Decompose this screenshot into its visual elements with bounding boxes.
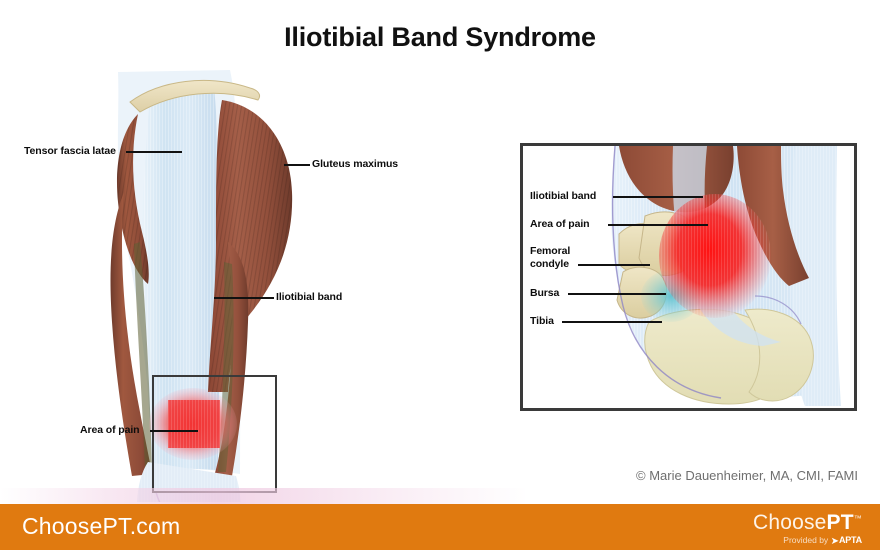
- illustration-canvas: Iliotibial Band Syndrome: [0, 0, 880, 550]
- logo-wordmark: ChoosePT™: [753, 507, 862, 534]
- leader-area-of-pain-left: [150, 430, 198, 432]
- label-area-of-pain-left: Area of pain: [80, 424, 139, 436]
- apta-org-name: APTA: [839, 535, 862, 545]
- label-femoral-condyle-line1: Femoral: [530, 245, 570, 258]
- apta-swoosh-icon: ➤: [831, 537, 839, 547]
- copyright-credit: © Marie Dauenheimer, MA, CMI, FAMI: [636, 468, 858, 483]
- footer-site-name[interactable]: ChoosePT.com: [22, 513, 180, 540]
- pink-wash-band: [0, 488, 880, 504]
- label-femoral-condyle-line2: condyle: [530, 258, 569, 271]
- label-iliotibial-band-left: Iliotibial band: [276, 291, 342, 303]
- knee-detail-panel: [520, 143, 857, 411]
- leader-tibia: [562, 321, 662, 323]
- leader-femoral-condyle: [578, 264, 650, 266]
- label-tensor-fascia-latae: Tensor fascia latae: [24, 145, 116, 157]
- label-iliotibial-band-right: Iliotibial band: [530, 190, 596, 202]
- leader-iliotibial-band-left: [214, 297, 274, 299]
- logo-word-bold: PT: [827, 511, 854, 534]
- leader-gluteus-maximus: [284, 164, 310, 166]
- label-tibia: Tibia: [530, 315, 554, 327]
- logo-trademark: ™: [854, 514, 862, 523]
- footer-bar: ChoosePT.com ChoosePT™ Provided by ➤APTA: [0, 504, 880, 550]
- leader-iliotibial-band-right: [613, 196, 703, 198]
- leader-tensor-fascia-latae: [126, 151, 182, 153]
- provided-by-text: Provided by: [783, 535, 828, 545]
- left-figure-hip-thigh: [90, 62, 305, 502]
- leader-area-of-pain-right: [608, 224, 708, 226]
- label-bursa: Bursa: [530, 287, 559, 299]
- logo-word-light: Choose: [753, 511, 827, 534]
- page-title: Iliotibial Band Syndrome: [0, 22, 880, 53]
- label-area-of-pain-right: Area of pain: [530, 218, 589, 230]
- callout-box-knee: [152, 375, 277, 493]
- knee-anatomy-svg: [523, 146, 854, 408]
- leader-bursa: [568, 293, 666, 295]
- label-gluteus-maximus: Gluteus maximus: [312, 158, 398, 170]
- choosept-logo[interactable]: ChoosePT™ Provided by ➤APTA: [753, 507, 862, 546]
- logo-provided-by: Provided by ➤APTA: [753, 535, 862, 546]
